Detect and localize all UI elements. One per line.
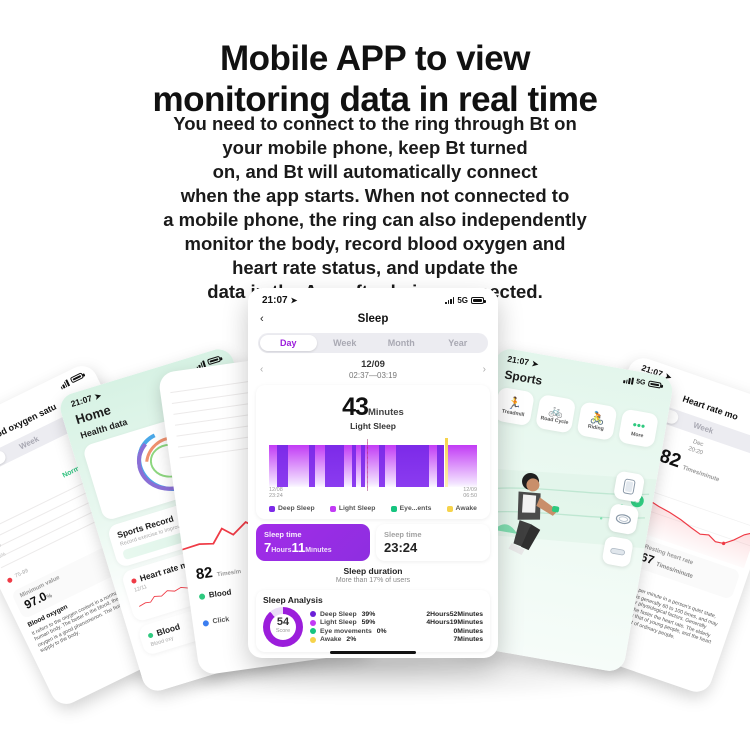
sleep-chart-plot (269, 445, 477, 487)
date-navigator: ‹ 12/09 02:37—03:19 › (248, 359, 498, 380)
legend-label: 75-99 (14, 568, 29, 580)
band-icon (609, 545, 626, 558)
mid-click-label[interactable]: Click (212, 616, 230, 625)
analysis-time: 7Minutes (454, 636, 483, 643)
sleep-bar (315, 445, 325, 487)
description-line: monitor the body, record blood oxygen an… (0, 232, 750, 256)
analysis-dot-icon (310, 611, 316, 617)
sleep-summary: 43Minutes (263, 393, 483, 422)
sleep-bar (344, 445, 352, 487)
sleep-total-card[interactable]: Sleep time 7Hours11Minutes (256, 524, 370, 561)
chart-marker-line (367, 439, 368, 491)
sleep-total-hours-unit: Hours (271, 547, 291, 554)
sport-tile-riding[interactable]: 🚴 Riding (576, 401, 617, 441)
tab-month[interactable]: Month (373, 335, 430, 351)
analysis-percent: 39% (362, 611, 376, 618)
sleep-chart-card: 43Minutes Light Sleep (256, 385, 490, 519)
analysis-name: Light Sleep (320, 619, 357, 626)
device-card-ring[interactable] (607, 503, 639, 535)
sleep-bar (429, 445, 437, 487)
sleep-stage-label: Light Sleep (263, 421, 483, 431)
period-tabs[interactable]: Day Week Month Year (258, 333, 488, 353)
network-label: 5G (457, 296, 468, 305)
more-dots-icon: ••• (632, 418, 647, 432)
tab-day[interactable]: Day (260, 335, 317, 351)
sleep-bar (288, 445, 309, 487)
legend-dot-icon (6, 576, 13, 583)
analysis-dot-icon (310, 637, 316, 643)
sleep-analysis-title: Sleep Analysis (263, 595, 483, 605)
sleep-stage-chart[interactable]: 12/08 23:24 12/09 06:50 (265, 437, 481, 495)
description-line: on, and Bt will automatically connect (0, 160, 750, 184)
device-card-band[interactable] (601, 535, 633, 567)
chart-start-label: 12/08 23:24 (269, 487, 283, 499)
sleep-score-label: Score (276, 627, 290, 636)
analysis-row-awake: Awake 2% 7Minutes (310, 636, 483, 643)
sleep-bar (396, 445, 429, 487)
treadmill-icon: 🏃 (506, 396, 523, 410)
sleep-start-label: Sleep time (384, 530, 482, 539)
battery-icon (648, 380, 662, 389)
click-dot-icon (202, 619, 209, 626)
phone-sleep[interactable]: 21:07 ➤ 5G ‹ Sleep Day Week M (248, 288, 498, 658)
sleep-time-cards: Sleep time 7Hours11Minutes Sleep time 23… (256, 524, 490, 561)
road-cycle-icon: 🚲 (548, 403, 565, 417)
sleep-score-ring: 54 Score (263, 607, 303, 647)
analysis-row-eye-movements: Eye movements 0% 0Minutes (310, 628, 483, 635)
sleep-start-value: 23:24 (384, 540, 482, 555)
sport-tile-label: Treadmill (501, 408, 524, 418)
sleep-bar (269, 445, 277, 487)
next-date-button[interactable]: › (483, 364, 486, 375)
analysis-time: 0Minutes (454, 628, 483, 635)
page-root: Mobile APP to view monitoring data in re… (0, 0, 750, 750)
mid-heart-value: 82 (195, 564, 214, 583)
signal-icon (58, 379, 69, 389)
analysis-row-light-sleep: Light Sleep 59% 4Hours19Minutes (310, 619, 483, 626)
legend-swatch-icon (269, 506, 275, 512)
sport-tile-road-cycle[interactable]: 🚲 Road Cycle (535, 394, 576, 434)
network-label: 5G (636, 378, 646, 387)
analysis-dot-icon (310, 628, 316, 634)
sleep-duration-summary: Sleep duration More than 17% of users (248, 566, 498, 584)
analysis-percent: 0% (377, 628, 387, 635)
status-time: 21:07 (262, 295, 288, 306)
chart-start-time: 23:24 (269, 493, 283, 499)
legend-label: Deep Sleep (278, 505, 315, 512)
sport-tile-label: More (631, 431, 644, 439)
sleep-duration-subtitle: More than 17% of users (248, 577, 498, 584)
analysis-name: Awake (320, 636, 341, 643)
home-indicator (330, 651, 416, 654)
phone-device-icon (622, 478, 637, 496)
page-heading: Sleep (248, 313, 498, 325)
device-card-phone[interactable] (613, 470, 645, 502)
sleep-total-label: Sleep time (264, 530, 362, 539)
legend-item-light-sleep: Light Sleep (330, 505, 376, 512)
sleep-bar (437, 445, 443, 487)
analysis-time: 4Hours19Minutes (426, 619, 483, 626)
sleep-score-value: 54 (276, 618, 290, 627)
description-line: a mobile phone, the ring can also indepe… (0, 208, 750, 232)
analysis-dot-icon (310, 620, 316, 626)
sleep-analysis-card: Sleep Analysis 54 Score Deep Sleep (256, 590, 490, 652)
sport-tile-label: Road Cycle (540, 415, 569, 426)
tab-year[interactable]: Year (430, 335, 487, 351)
blood-oxygen-dot-icon (147, 632, 153, 638)
analysis-percent: 59% (362, 619, 376, 626)
nav-bar: ‹ Sleep (248, 309, 498, 331)
page-title-line1: Mobile APP to view (220, 39, 530, 78)
sleep-start-card[interactable]: Sleep time 23:24 (376, 524, 490, 561)
current-date: 12/09 (263, 359, 482, 370)
sleep-duration-title: Sleep duration (248, 566, 498, 576)
chart-end-label: 12/09 06:50 (463, 487, 477, 499)
riding-icon: 🚴 (589, 410, 606, 424)
description-line: your mobile phone, keep Bt turned (0, 136, 750, 160)
location-arrow-icon: ➤ (291, 296, 298, 305)
description-line: when the app starts. When not connected … (0, 184, 750, 208)
smart-ring-icon (614, 512, 632, 527)
location-arrow-icon: ➤ (531, 358, 539, 368)
description-line: You need to connect to the ring through … (0, 112, 750, 136)
current-range: 02:37—03:19 (263, 371, 482, 380)
sport-tile-treadmill[interactable]: 🏃 Treadmill (494, 387, 535, 427)
analysis-row-deep-sleep: Deep Sleep 39% 2Hours52Minutes (310, 611, 483, 618)
sleep-bar (385, 445, 395, 487)
sleep-chart-legend: Deep Sleep Light Sleep Eye...ents A (263, 497, 483, 514)
legend-item-eye-movements: Eye...ents (391, 505, 432, 512)
sleep-total-minutes-unit: Minutes (305, 547, 331, 554)
legend-label: Awake (456, 505, 477, 512)
sleep-bar (448, 445, 477, 487)
sleep-bar (277, 445, 287, 487)
analysis-name: Deep Sleep (320, 611, 357, 618)
signal-icon (623, 376, 633, 385)
sleep-total-minutes: 11 (291, 540, 305, 555)
legend-swatch-icon (447, 506, 453, 512)
legend-label: Eye...ents (400, 505, 432, 512)
sleep-bar (325, 445, 344, 487)
tab-week[interactable]: Week (317, 335, 374, 351)
sleep-duration-value: 43 (342, 393, 368, 421)
resting-unit: Times/minute (655, 562, 693, 580)
sleep-analysis-rows: Deep Sleep 39% 2Hours52Minutes Light Sle… (310, 609, 483, 645)
mid-blood-label: Blood (208, 588, 232, 600)
legend-swatch-icon (391, 506, 397, 512)
sleep-duration-unit: Minutes (368, 407, 404, 418)
sport-tile-more[interactable]: ••• More (618, 409, 659, 449)
min-unit: % (46, 593, 53, 601)
mid-heart-unit: Times/m (217, 569, 242, 578)
analysis-percent: 2% (346, 636, 356, 643)
location-arrow-icon: ➤ (93, 391, 102, 402)
chart-end-time: 06:50 (463, 493, 477, 499)
analysis-name: Eye movements (320, 628, 372, 635)
legend-item-awake: Awake (447, 505, 477, 512)
legend-swatch-icon (330, 506, 336, 512)
legend-item-deep-sleep: Deep Sleep (269, 505, 315, 512)
status-bar: 21:07 ➤ 5G (248, 288, 498, 309)
page-title: Mobile APP to view monitoring data in re… (0, 38, 750, 120)
legend-label: Light Sleep (339, 505, 376, 512)
battery-icon (471, 297, 484, 304)
phone-fan: 21:07 ➤ ‹ Blood oxygen satu Day Week (0, 270, 750, 690)
blood-dot-icon (199, 593, 206, 600)
signal-icon (445, 297, 454, 304)
analysis-time: 2Hours52Minutes (426, 611, 483, 618)
heart-dot-icon (131, 577, 137, 583)
